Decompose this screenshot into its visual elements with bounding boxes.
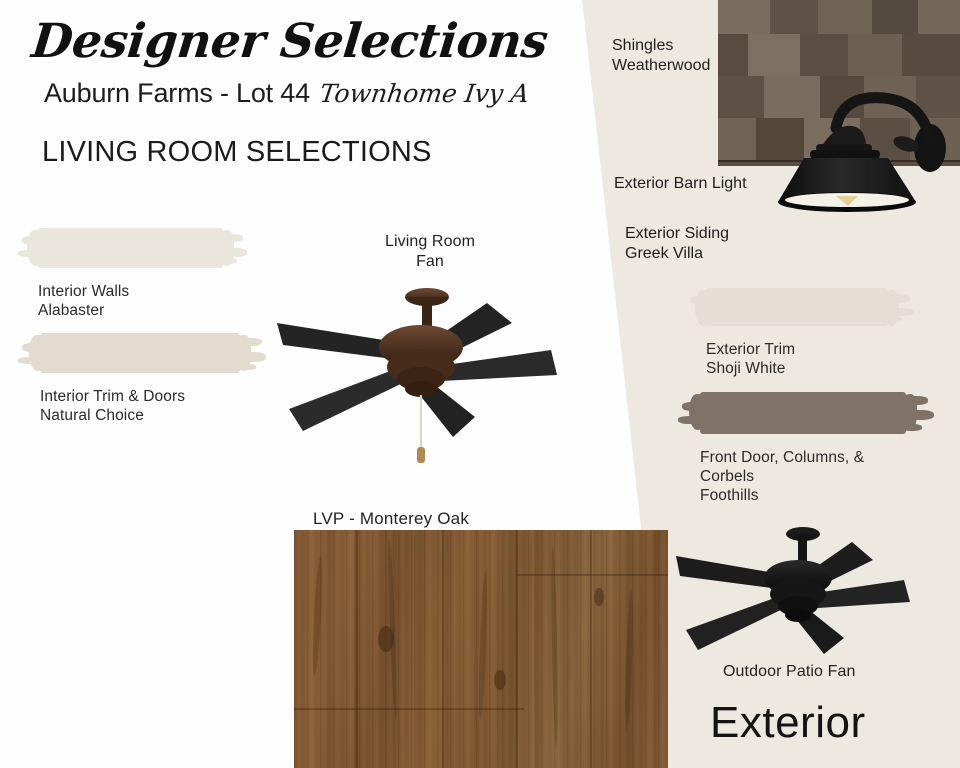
subtitle: Auburn Farms - Lot 44Townhome Ivy A xyxy=(44,78,529,109)
swatch-wisp xyxy=(219,234,243,242)
paint-swatch-foothills xyxy=(700,392,906,434)
exterior-section-title: Exterior xyxy=(710,698,866,748)
wood-knot xyxy=(378,626,394,652)
swatch-wisp xyxy=(690,296,712,304)
page-title: Designer Selections xyxy=(29,14,550,69)
exterior-siding-caption: Exterior Siding Greek Villa xyxy=(625,224,729,263)
paint-swatch-natural-choice xyxy=(40,333,240,373)
exterior-barn-light-image xyxy=(770,88,960,220)
wood-knot xyxy=(594,588,604,606)
shingle-tab xyxy=(748,34,802,76)
swatch-label-exterior-trim: Exterior Trim Shoji White xyxy=(706,341,888,379)
plank-seam xyxy=(516,574,668,576)
outdoor-patio-fan-image xyxy=(672,520,938,660)
shingle-tab xyxy=(718,34,750,76)
outdoor-patio-fan-caption: Outdoor Patio Fan xyxy=(723,663,855,681)
designer-selections-board: Designer Selections Auburn Farms - Lot 4… xyxy=(0,0,960,768)
swatch-wisp xyxy=(236,364,256,370)
swatch-block-front-door: Front Door, Columns, & Corbels Foothills xyxy=(700,392,906,506)
swatch-wisp xyxy=(678,416,706,424)
swatch-wisp xyxy=(884,294,910,303)
plank-seam xyxy=(356,530,358,768)
living-room-fan-caption: Living Room Fan xyxy=(355,232,505,271)
fan-blade xyxy=(686,596,789,650)
living-room-fan-image xyxy=(275,275,595,465)
shingle-tab xyxy=(848,34,904,76)
living-room-section-title: LIVING ROOM SELECTIONS xyxy=(42,136,432,170)
shingle-tab xyxy=(718,0,772,34)
swatch-wisp xyxy=(22,343,46,352)
swatch-wisp xyxy=(18,250,44,257)
barn-light-caption: Exterior Barn Light xyxy=(614,175,747,193)
shingle-tab xyxy=(718,118,758,160)
shingle-tab xyxy=(770,0,820,34)
plank-seam xyxy=(294,708,524,710)
swatch-wisp xyxy=(22,236,44,245)
shingle-row xyxy=(718,34,960,78)
plank-seam xyxy=(590,530,592,768)
shingle-tab xyxy=(918,0,960,34)
swatch-wisp xyxy=(18,357,46,364)
swatch-block-exterior-trim: Exterior Trim Shoji White xyxy=(706,288,888,379)
swatch-wisp xyxy=(902,424,922,431)
swatch-wisp xyxy=(219,248,247,257)
paint-swatch-alabaster xyxy=(38,228,223,268)
shingles-caption: Shingles Weatherwood xyxy=(612,36,710,75)
shingle-row xyxy=(718,0,960,36)
plank-seam xyxy=(442,530,444,768)
swatch-label-interior-trim: Interior Trim & Doors Natural Choice xyxy=(40,388,240,426)
shingle-tab xyxy=(818,0,874,34)
lvp-flooring-caption: LVP - Monterey Oak xyxy=(313,509,469,529)
swatch-wisp xyxy=(884,316,902,322)
swatch-label-interior-walls: Interior Walls Alabaster xyxy=(38,283,223,321)
swatch-wisp xyxy=(219,258,237,264)
swatch-wisp xyxy=(236,338,262,346)
shingle-tab xyxy=(800,34,850,76)
lvp-flooring-sample xyxy=(294,530,668,768)
shingle-tab xyxy=(718,76,766,118)
swatch-wisp xyxy=(682,402,706,411)
wood-knot xyxy=(494,670,506,690)
subtitle-plan: Townhome Ivy A xyxy=(318,79,531,108)
swatch-block-interior-trim: Interior Trim & Doors Natural Choice xyxy=(40,333,240,426)
swatch-label-front-door: Front Door, Columns, & Corbels Foothills xyxy=(700,449,906,506)
swatch-block-interior-walls: Interior Walls Alabaster xyxy=(38,228,223,321)
swatch-wisp xyxy=(884,308,914,316)
paint-swatch-shoji-white xyxy=(706,288,888,326)
swatch-wisp xyxy=(236,352,266,362)
subtitle-lot: Auburn Farms - Lot 44 xyxy=(44,78,310,108)
shingle-tab xyxy=(902,34,960,76)
shingle-tab xyxy=(872,0,920,34)
swatch-wisp xyxy=(902,410,934,420)
swatch-wisp xyxy=(902,396,928,405)
plank-seam xyxy=(516,530,518,768)
